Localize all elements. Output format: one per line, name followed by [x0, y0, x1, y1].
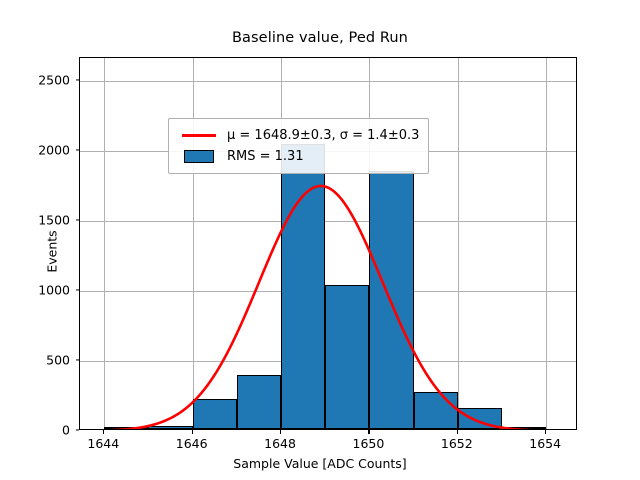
chart-title: Baseline value, Ped Run — [0, 30, 640, 46]
x-tick-label: 1644 — [87, 436, 119, 451]
legend-item-rms: RMS = 1.31 — [177, 146, 419, 167]
x-tick-label: 1652 — [441, 436, 473, 451]
histogram-bar — [414, 392, 458, 429]
y-tick-mark — [76, 79, 80, 80]
x-tick-label: 1648 — [264, 436, 296, 451]
legend-label-fit: μ = 1648.9±0.3, σ = 1.4±0.3 — [221, 128, 419, 143]
histogram-bar — [237, 375, 281, 429]
gridline-horizontal — [80, 81, 576, 82]
histogram-bar — [281, 144, 325, 429]
histogram-bar — [148, 426, 192, 429]
figure: Baseline value, Ped Run μ = 1648.9±0.3, … — [0, 0, 640, 480]
y-tick-label: 500 — [0, 352, 70, 367]
y-axis-label: Events — [45, 192, 60, 312]
x-tick-label: 1650 — [353, 436, 385, 451]
gridline-horizontal — [80, 221, 576, 222]
y-tick-mark — [76, 219, 80, 220]
y-tick-label: 1000 — [0, 282, 70, 297]
y-tick-label: 2500 — [0, 72, 70, 87]
line-swatch-icon — [177, 134, 221, 137]
x-tick-mark — [457, 430, 458, 434]
x-tick-mark — [192, 430, 193, 434]
x-tick-mark — [545, 430, 546, 434]
gridline-vertical — [193, 58, 194, 429]
y-tick-mark — [76, 359, 80, 360]
legend-item-fit: μ = 1648.9±0.3, σ = 1.4±0.3 — [177, 125, 419, 146]
x-tick-label: 1654 — [529, 436, 561, 451]
y-tick-mark — [76, 429, 80, 430]
x-tick-mark — [103, 430, 104, 434]
histogram-bar — [502, 427, 546, 429]
histogram-bar — [193, 399, 237, 429]
legend: μ = 1648.9±0.3, σ = 1.4±0.3 RMS = 1.31 — [168, 118, 429, 174]
x-axis-label: Sample Value [ADC Counts] — [0, 456, 640, 471]
y-tick-label: 2000 — [0, 142, 70, 157]
y-tick-label: 0 — [0, 423, 70, 438]
histogram-bar — [369, 171, 413, 429]
y-tick-label: 1500 — [0, 212, 70, 227]
x-tick-mark — [368, 430, 369, 434]
gridline-vertical — [104, 58, 105, 429]
gridline-vertical — [458, 58, 459, 429]
histogram-bar — [458, 408, 502, 429]
histogram-bar — [325, 285, 369, 429]
legend-label-rms: RMS = 1.31 — [221, 149, 304, 164]
y-tick-mark — [76, 149, 80, 150]
x-tick-mark — [280, 430, 281, 434]
plot-area: μ = 1648.9±0.3, σ = 1.4±0.3 RMS = 1.31 — [79, 57, 577, 430]
gridline-vertical — [546, 58, 547, 429]
histogram-bar — [104, 427, 148, 429]
y-tick-mark — [76, 289, 80, 290]
x-tick-label: 1646 — [176, 436, 208, 451]
patch-swatch-icon — [177, 150, 221, 163]
